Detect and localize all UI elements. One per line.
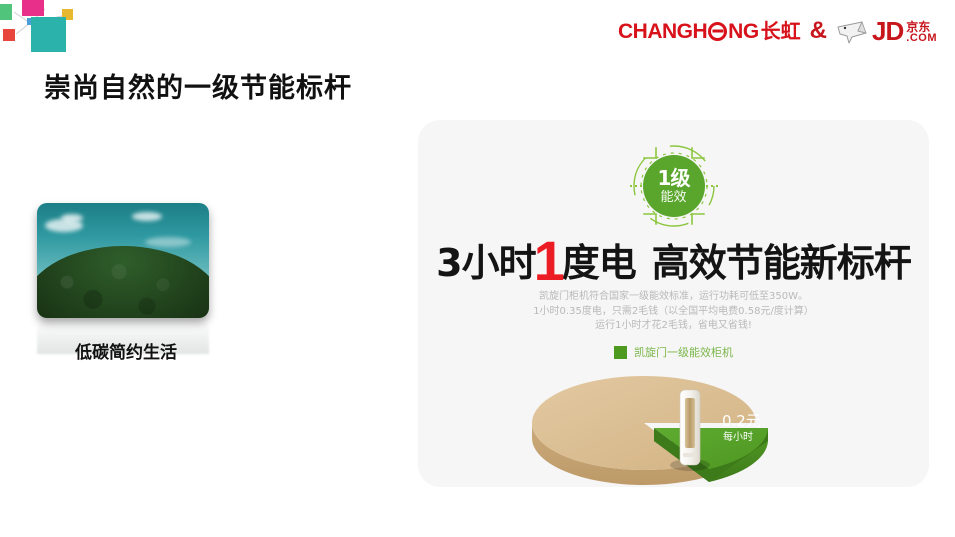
forest-photo — [37, 203, 209, 318]
jd-wordmark: JD — [872, 18, 903, 44]
brand-logos: CHANGH NG 长虹 & JD 京东 .COM — [618, 14, 937, 48]
legend-swatch-icon — [614, 346, 627, 359]
svg-text:每小时: 每小时 — [723, 430, 753, 443]
description-line: 凯旋门柜机符合国家一级能效标准，运行功耗可低至350W。 — [418, 290, 929, 305]
feature-panel: 1级 能效 3小时1度电高效节能新标杆 凯旋门柜机符合国家一级能效标准，运行功耗… — [418, 120, 929, 487]
page-title: 崇尚自然的一级节能标杆 — [44, 66, 352, 105]
jd-com-text: .COM — [906, 33, 937, 44]
panel-description: 凯旋门柜机符合国家一级能效标准，运行功耗可低至350W。 1小时0.35度电，只… — [418, 290, 929, 334]
jd-dog-icon — [836, 20, 870, 44]
changhong-logo: CHANGH NG 长虹 — [618, 21, 801, 42]
headline-part2: 度电 — [562, 241, 636, 285]
photo-block — [37, 203, 209, 354]
description-line: 运行1小时才花2毛钱，省电又省钱! — [418, 319, 929, 334]
changhong-chinese-name: 长虹 — [761, 21, 801, 41]
changhong-o-icon — [708, 22, 727, 41]
badge-core: 1级 能效 — [643, 155, 705, 217]
panel-headline: 3小时1度电高效节能新标杆 — [418, 232, 929, 287]
cloud-icon — [61, 214, 83, 222]
headline-part1: 3小时 — [436, 241, 535, 285]
pie-chart: 0.2元 每小时 — [418, 368, 929, 486]
ampersand: & — [810, 19, 827, 43]
svg-text:0.2元: 0.2元 — [722, 412, 761, 430]
jd-logo: JD 京东 .COM — [836, 18, 937, 44]
legend-label: 凯旋门一级能效柜机 — [634, 344, 733, 360]
description-line: 1小时0.35度电，只需2毛钱（以全国平均电费0.58元/度计算） — [418, 305, 929, 320]
energy-grade-badge: 1级 能效 — [626, 138, 722, 234]
chart-legend: 凯旋门一级能效柜机 — [418, 344, 929, 360]
headline-highlight-number: 1 — [534, 229, 564, 292]
cloud-icon — [132, 212, 162, 221]
jd-sub: 京东 .COM — [906, 21, 937, 44]
decorative-squares — [0, 0, 95, 62]
changhong-wordmark-right: NG — [728, 21, 759, 42]
slide-root: CHANGH NG 长虹 & JD 京东 .COM 崇尚自然的一级节能标杆 — [0, 0, 955, 537]
badge-efficiency-text: 能效 — [660, 191, 686, 204]
badge-grade-text: 1级 — [658, 168, 690, 188]
cloud-icon — [145, 237, 191, 247]
headline-part3: 高效节能新标杆 — [652, 241, 911, 285]
photo-caption: 低碳简约生活 — [37, 338, 215, 363]
changhong-wordmark-left: CHANGH — [618, 21, 707, 42]
